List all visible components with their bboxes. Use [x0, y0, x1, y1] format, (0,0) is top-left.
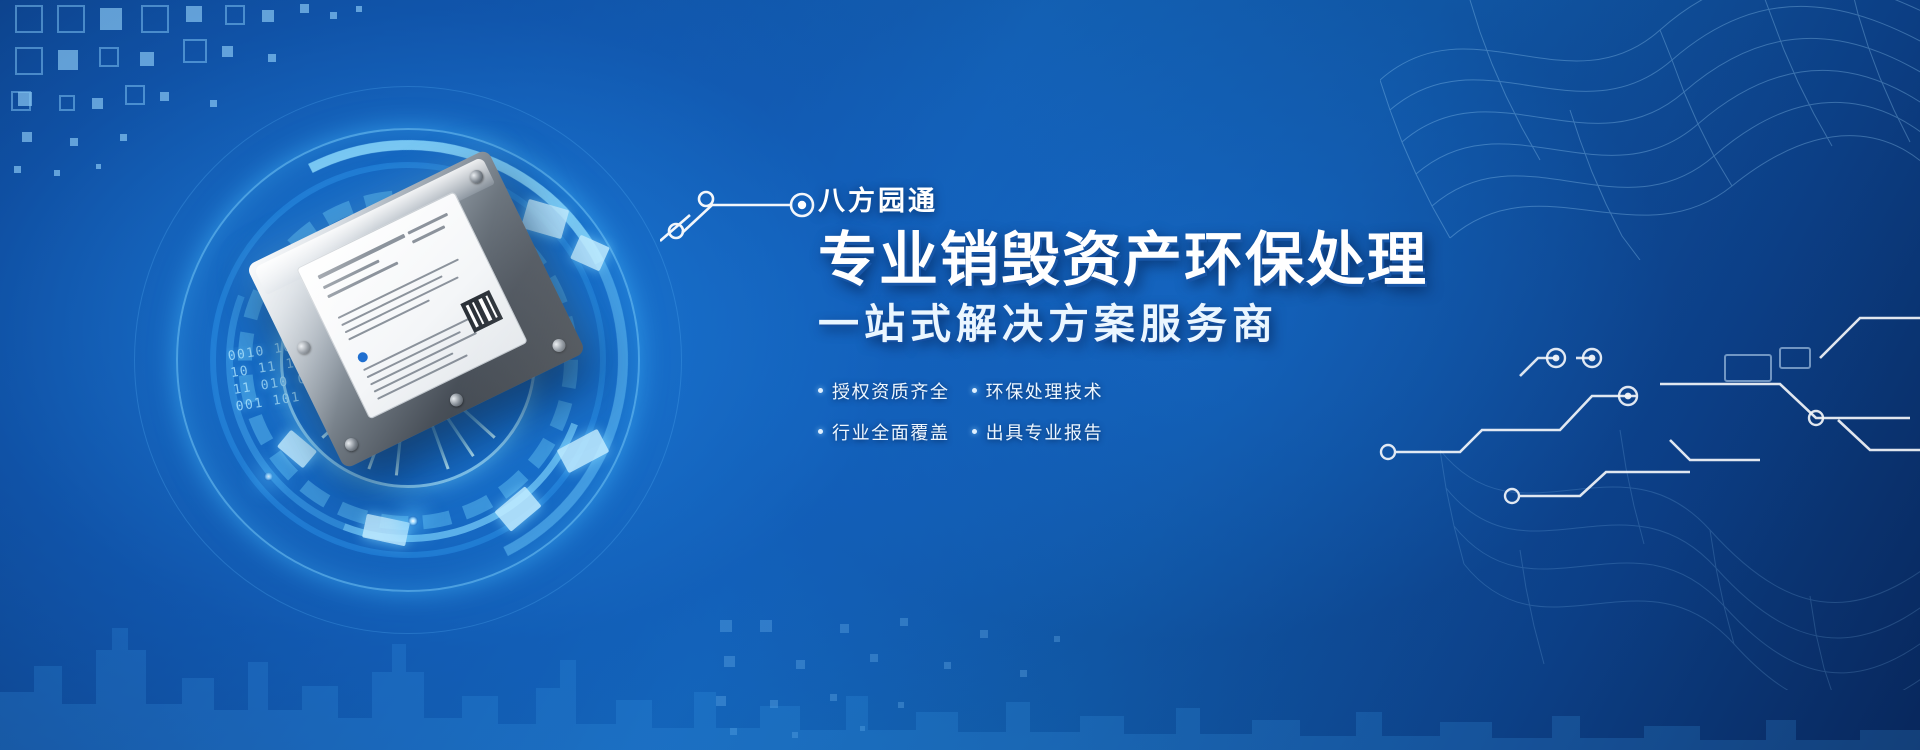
brand-name: 八方园通: [818, 185, 1538, 217]
pixel-mosaic-decoration: [0, 0, 420, 190]
city-skyline-silhouette: [0, 600, 1920, 750]
tech-hud-ring: [168, 120, 648, 600]
hard-disk-drive-image: [246, 149, 586, 470]
feature-label: 行业全面覆盖: [832, 419, 950, 445]
bullet-dot-icon: [972, 388, 977, 393]
feature-label: 出具专业报告: [986, 419, 1104, 445]
binary-code-overlay: 0010 1001 1001 10 11 1011 001 10 11 010 …: [227, 313, 468, 434]
feature-item: 行业全面覆盖: [818, 419, 950, 445]
headline: 专业销毁资产环保处理: [818, 229, 1538, 292]
subheadline: 一站式解决方案服务商: [818, 302, 1538, 348]
bullet-dot-icon: [818, 429, 823, 434]
feature-item: 出具专业报告: [972, 419, 1104, 445]
binary-line: 11 010 0110 111 01 0: [232, 346, 462, 399]
binary-line: 0010 1001 1001: [227, 313, 457, 366]
promotional-banner: 0010 1001 1001 10 11 1011 001 10 11 010 …: [0, 0, 1920, 750]
feature-list: 授权资质齐全 环保处理技术 行业全面覆盖 出具专业报告: [818, 378, 1538, 445]
hdd-label: [296, 191, 528, 419]
feature-item: 环保处理技术: [972, 378, 1104, 404]
dot-grid-decoration: [700, 610, 1120, 750]
binary-line: 10 11 1011 001 10: [229, 329, 459, 382]
banner-copy-block: 八方园通 专业销毁资产环保处理 一站式解决方案服务商 授权资质齐全 环保处理技术…: [818, 185, 1538, 445]
bullet-dot-icon: [972, 429, 977, 434]
feature-item: 授权资质齐全: [818, 378, 950, 404]
feature-label: 环保处理技术: [986, 378, 1104, 404]
bullet-dot-icon: [818, 388, 823, 393]
feature-label: 授权资质齐全: [832, 378, 950, 404]
binary-line: 001 101: [235, 363, 465, 416]
